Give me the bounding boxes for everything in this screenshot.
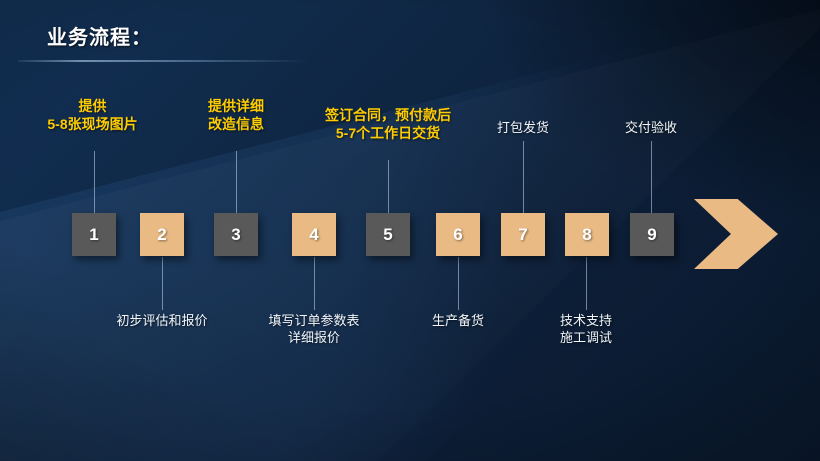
step-label-top-7: 打包发货 <box>466 120 580 137</box>
step-label-bottom-6: 生产备货 <box>401 313 515 330</box>
page-title: 业务流程： <box>47 21 152 50</box>
step-label-bottom-2: 初步评估和报价 <box>105 313 219 330</box>
step-label-top-1: 提供 5-8张现场图片 <box>0 97 185 133</box>
connector-stem-8 <box>586 257 587 310</box>
connector-stem-3 <box>236 151 237 214</box>
step-box-9[interactable]: 9 <box>630 213 674 256</box>
connector-stem-7 <box>523 141 524 214</box>
step-label-top-5: 签订合同，预付款后 5-7个工作日交货 <box>300 106 476 142</box>
step-label-top-7-line1: 打包发货 <box>466 120 580 137</box>
step-label-bottom-4-line2: 详细报价 <box>257 330 371 347</box>
step-label-top-5-line2: 5-7个工作日交货 <box>300 124 476 142</box>
step-label-top-5-line1: 签订合同，预付款后 <box>300 106 476 124</box>
step-number-6: 6 <box>453 225 462 245</box>
step-label-top-1-line1: 提供 <box>0 97 185 115</box>
step-number-3: 3 <box>231 225 240 245</box>
step-label-top-3: 提供详细 改造信息 <box>163 97 309 133</box>
background-vignette <box>0 0 820 461</box>
connector-stem-9 <box>651 141 652 214</box>
step-label-bottom-4-line1: 填写订单参数表 <box>257 313 371 330</box>
step-label-bottom-4: 填写订单参数表 详细报价 <box>257 313 371 347</box>
step-label-top-1-line2: 5-8张现场图片 <box>0 115 185 133</box>
step-number-4: 4 <box>309 225 318 245</box>
step-number-5: 5 <box>383 225 392 245</box>
slide-canvas: 业务流程： 提供 5-8张现场图片 提供详细 改造信息 签订合同，预付款后 5-… <box>0 0 820 461</box>
step-box-5[interactable]: 5 <box>366 213 410 256</box>
step-box-7[interactable]: 7 <box>501 213 545 256</box>
step-label-top-3-line1: 提供详细 <box>163 97 309 115</box>
title-underline-rule <box>18 60 308 62</box>
connector-stem-4 <box>314 257 315 310</box>
step-number-7: 7 <box>518 225 527 245</box>
step-label-bottom-8-line2: 施工调试 <box>529 330 643 347</box>
step-box-6[interactable]: 6 <box>436 213 480 256</box>
step-box-8[interactable]: 8 <box>565 213 609 256</box>
step-number-9: 9 <box>647 225 656 245</box>
step-label-top-9-line1: 交付验收 <box>594 120 708 137</box>
connector-stem-5 <box>388 160 389 214</box>
step-box-3[interactable]: 3 <box>214 213 258 256</box>
step-box-4[interactable]: 4 <box>292 213 336 256</box>
connector-stem-1 <box>94 151 95 214</box>
connector-stem-2 <box>162 257 163 310</box>
step-label-bottom-6-line1: 生产备货 <box>401 313 515 330</box>
step-label-bottom-8-line1: 技术支持 <box>529 313 643 330</box>
step-box-1[interactable]: 1 <box>72 213 116 256</box>
step-number-2: 2 <box>157 225 166 245</box>
step-label-top-9: 交付验收 <box>594 120 708 137</box>
step-number-8: 8 <box>582 225 591 245</box>
step-label-bottom-2-line1: 初步评估和报价 <box>105 313 219 330</box>
step-label-top-3-line2: 改造信息 <box>163 115 309 133</box>
step-label-bottom-8: 技术支持 施工调试 <box>529 313 643 347</box>
connector-stem-6 <box>458 257 459 310</box>
step-box-2[interactable]: 2 <box>140 213 184 256</box>
step-number-1: 1 <box>89 225 98 245</box>
